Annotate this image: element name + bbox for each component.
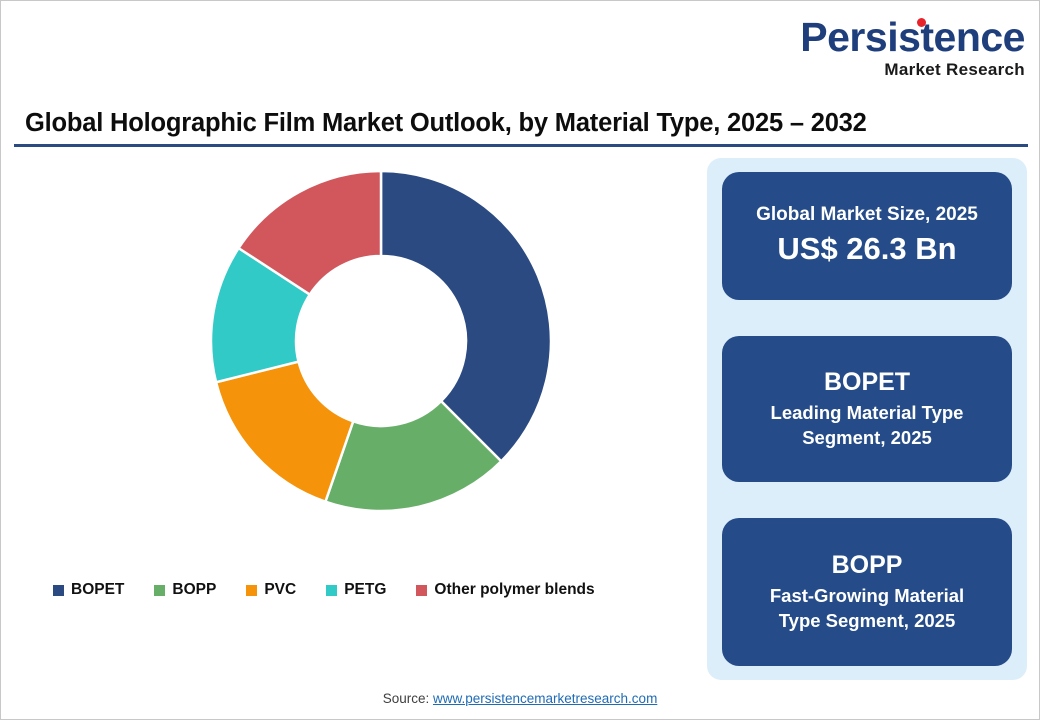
legend-label: PVC [264, 581, 296, 599]
market-size-value: US$ 26.3 Bn [777, 229, 956, 269]
legend-swatch-icon [154, 585, 165, 596]
leading-segment-sub-line1: Leading Material Type [771, 401, 964, 426]
chart-legend: BOPET BOPP PVC PETG Other polymer blends [53, 581, 595, 599]
brand-name: Persistence [800, 17, 1025, 58]
legend-swatch-icon [326, 585, 337, 596]
legend-label: BOPP [172, 581, 216, 599]
brand-name-text: Persistence [800, 14, 1025, 60]
legend-label: PETG [344, 581, 386, 599]
donut-chart [11, 151, 691, 621]
legend-item-bopet: BOPET [53, 581, 124, 599]
title-divider [14, 144, 1028, 147]
donut-slice-bopet [381, 171, 551, 461]
source-footer: Source: www.persistencemarketresearch.co… [1, 691, 1039, 706]
legend-item-bopp: BOPP [154, 581, 216, 599]
source-label: Source: [383, 691, 430, 706]
leading-segment-name: BOPET [824, 367, 910, 397]
infographic-page: Persistence Market Research Global Holog… [0, 0, 1040, 720]
market-size-card: Global Market Size, 2025 US$ 26.3 Bn [722, 172, 1012, 300]
legend-item-pvc: PVC [246, 581, 296, 599]
fast-growing-segment-sub-line1: Fast-Growing Material [770, 584, 964, 609]
market-size-label: Global Market Size, 2025 [756, 203, 978, 227]
fast-growing-segment-sub-line2: Type Segment, 2025 [779, 609, 956, 634]
fast-growing-segment-name: BOPP [832, 550, 903, 580]
brand-logo: Persistence Market Research [800, 17, 1025, 78]
leading-segment-card: BOPET Leading Material Type Segment, 202… [722, 336, 1012, 482]
donut-slice-pvc [216, 362, 353, 502]
fast-growing-segment-card: BOPP Fast-Growing Material Type Segment,… [722, 518, 1012, 666]
leading-segment-sub-line2: Segment, 2025 [802, 426, 932, 451]
brand-tagline: Market Research [800, 61, 1025, 78]
source-link[interactable]: www.persistencemarketresearch.com [433, 691, 657, 706]
legend-swatch-icon [416, 585, 427, 596]
legend-swatch-icon [53, 585, 64, 596]
highlights-panel: Global Market Size, 2025 US$ 26.3 Bn BOP… [707, 158, 1027, 680]
legend-label: Other polymer blends [434, 581, 594, 599]
page-title: Global Holographic Film Market Outlook, … [25, 109, 1015, 138]
legend-label: BOPET [71, 581, 124, 599]
donut-chart-svg [201, 161, 561, 521]
legend-item-petg: PETG [326, 581, 386, 599]
donut-slice-group [211, 171, 551, 511]
legend-swatch-icon [246, 585, 257, 596]
legend-item-other-polymer-blends: Other polymer blends [416, 581, 594, 599]
